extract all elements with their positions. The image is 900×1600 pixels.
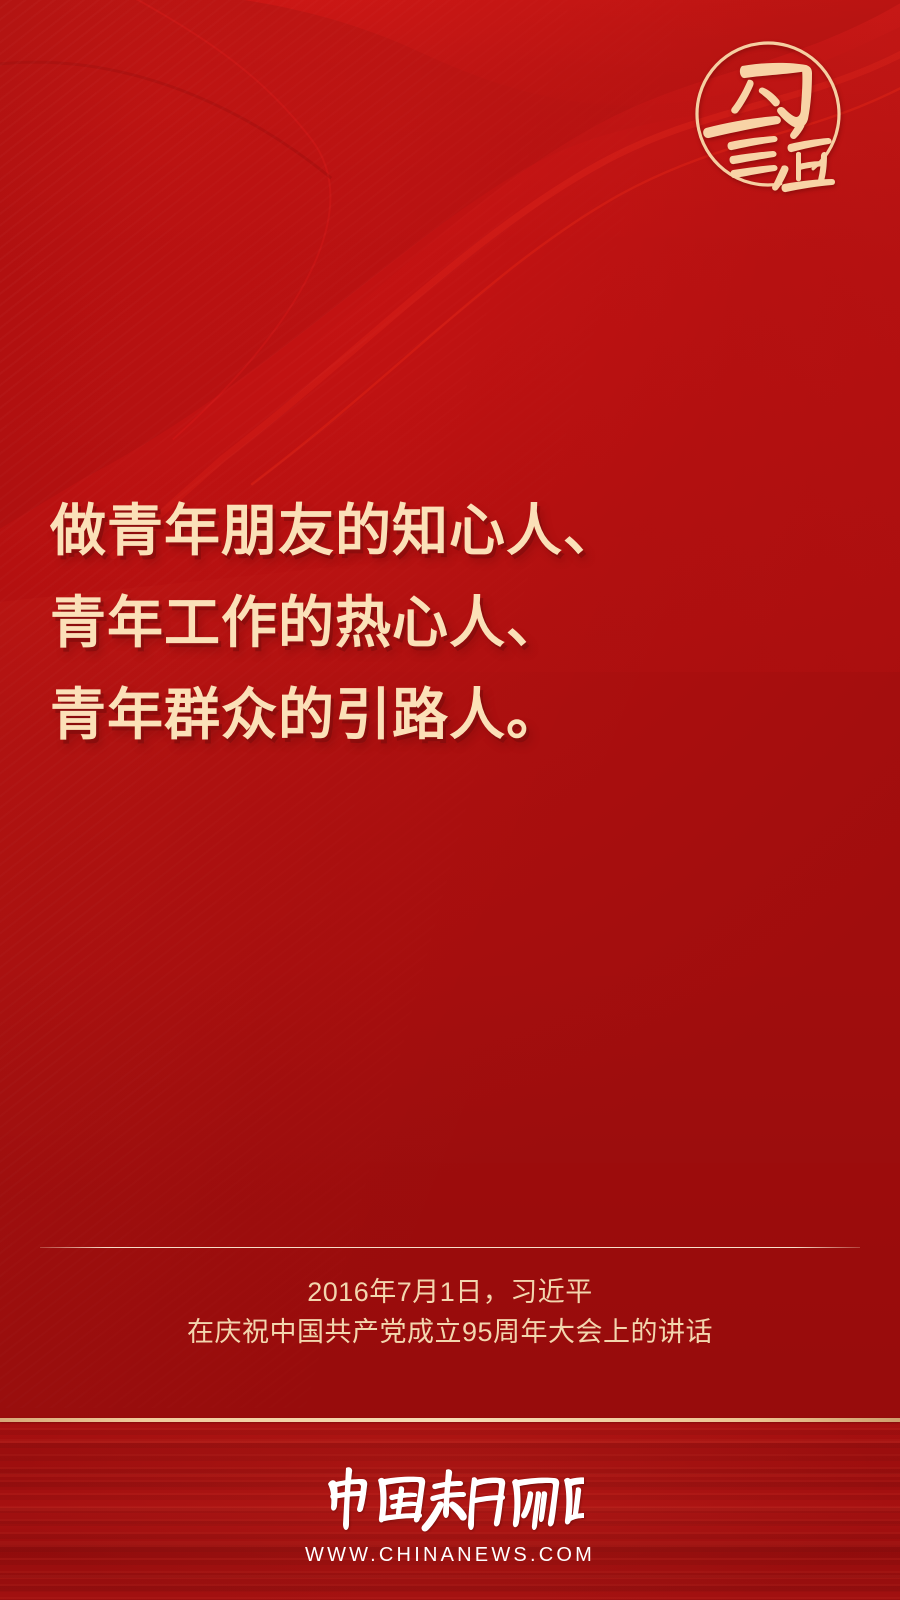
xi-yan-dao-seal-icon [686, 32, 850, 196]
attribution-date-speaker: 2016年7月1日，习近平 [0, 1272, 900, 1312]
attribution-block: 2016年7月1日，习近平 在庆祝中国共产党成立95周年大会上的讲话 [0, 1272, 900, 1352]
chinanews-logo-icon [316, 1462, 584, 1536]
footer-gold-divider [0, 1418, 900, 1422]
chinanews-brand: WWW.CHINANEWS.COM [0, 1462, 900, 1567]
headline-quote: 做青年朋友的知心人、 青年工作的热心人、 青年群众的引路人。 [50, 485, 810, 761]
poster-canvas: 做青年朋友的知心人、 青年工作的热心人、 青年群众的引路人。 2016年7月1日… [0, 0, 900, 1600]
attribution-divider [40, 1247, 860, 1248]
headline-line-3: 青年群众的引路人。 [50, 669, 810, 761]
headline-line-2: 青年工作的热心人、 [50, 577, 810, 669]
headline-line-1: 做青年朋友的知心人、 [50, 485, 810, 577]
chinanews-url: WWW.CHINANEWS.COM [0, 1544, 900, 1567]
background-vignette [0, 0, 900, 1600]
attribution-occasion: 在庆祝中国共产党成立95周年大会上的讲话 [0, 1312, 900, 1352]
